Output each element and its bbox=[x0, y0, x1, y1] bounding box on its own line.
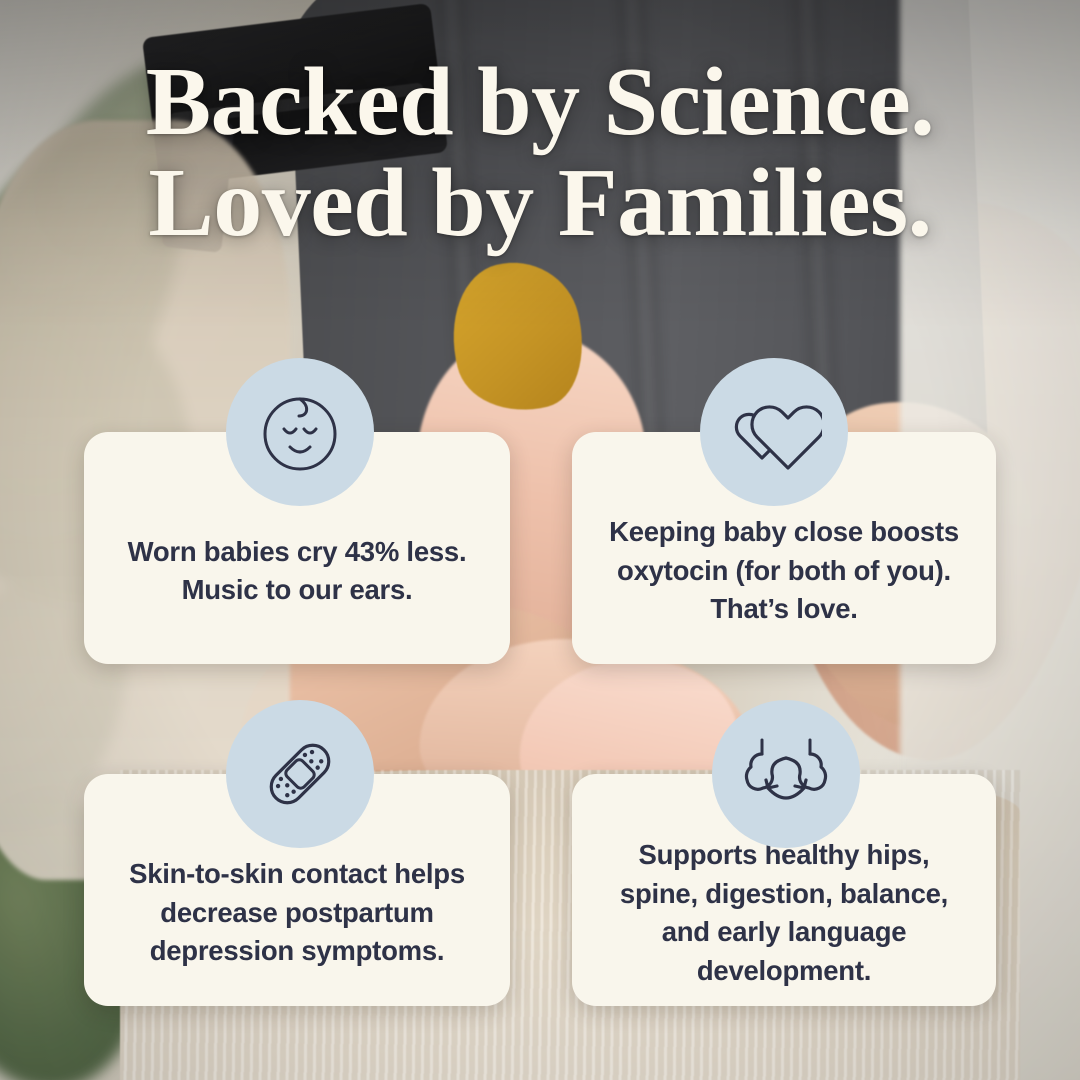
benefit-card-text: Worn babies cry 43% less. Music to our e… bbox=[110, 533, 484, 610]
benefit-card-text: Skin-to-skin contact helps decrease post… bbox=[110, 855, 484, 971]
hips-pelvis-icon-badge bbox=[712, 700, 860, 848]
bandage-icon bbox=[252, 726, 348, 822]
baby-face-icon-badge bbox=[226, 358, 374, 506]
hips-pelvis-icon bbox=[738, 730, 834, 818]
benefit-card-text: Keeping baby close boosts oxytocin (for … bbox=[598, 513, 970, 629]
headline-line-2: Loved by Families. bbox=[0, 153, 1080, 254]
headline-line-1: Backed by Science. bbox=[146, 48, 935, 156]
bandage-icon-badge bbox=[226, 700, 374, 848]
benefit-card-text: Supports healthy hips, spine, digestion,… bbox=[598, 836, 970, 990]
promo-graphic: Backed by Science. Loved by Families. bbox=[0, 0, 1080, 1080]
page-title: Backed by Science. Loved by Families. bbox=[0, 52, 1080, 254]
two-hearts-icon bbox=[726, 388, 822, 476]
two-hearts-icon-badge bbox=[700, 358, 848, 506]
baby-face-icon bbox=[254, 386, 346, 478]
